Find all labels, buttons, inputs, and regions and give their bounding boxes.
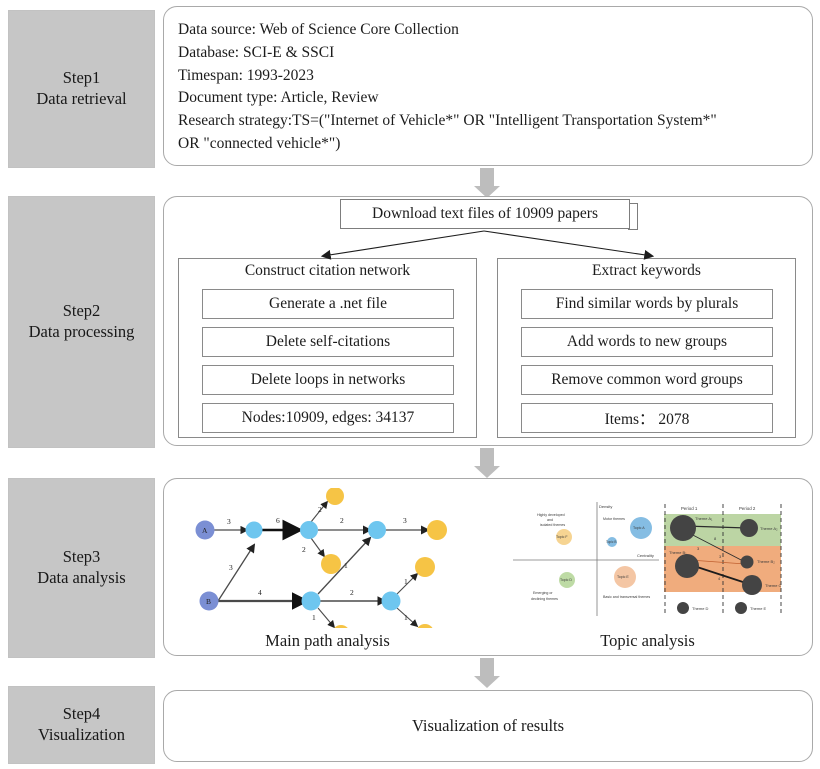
step2-line1: Step2 xyxy=(63,301,101,322)
step4-content-box: Visualization of results xyxy=(163,690,813,762)
step-label-step3: Step3 Data analysis xyxy=(8,478,155,658)
svg-text:Theme A₁: Theme A₁ xyxy=(695,516,713,521)
svg-text:2: 2 xyxy=(318,505,322,514)
step3-line2: Data analysis xyxy=(37,568,125,589)
step1-line-0: Data source: Web of Science Core Collect… xyxy=(178,19,802,42)
svg-text:Topic D: Topic D xyxy=(560,578,572,582)
main-path-analysis-figure: A B 3 6 3 2 2 2 3 1 4 2 1 1 1 xyxy=(185,488,465,628)
step-label-step4: Step4 Visualization xyxy=(8,686,155,764)
svg-text:3: 3 xyxy=(227,517,231,526)
step2-col1-item-3[interactable]: Nodes:10909, edges: 34137 xyxy=(202,403,454,433)
step4-line1: Step4 xyxy=(63,704,101,725)
svg-text:1: 1 xyxy=(344,561,348,570)
flowchart-canvas: Step1 Data retrieval Data source: Web of… xyxy=(0,0,820,769)
step2-col1-item-0[interactable]: Generate a .net file xyxy=(202,289,454,319)
svg-text:Topic F: Topic F xyxy=(556,535,568,539)
step2-col2-item-0-label: Find similar words by plurals xyxy=(556,295,739,313)
step1-line2: Data retrieval xyxy=(36,89,126,110)
step3-line1: Step3 xyxy=(63,547,101,568)
step2-col2-item-1[interactable]: Add words to new groups xyxy=(521,327,773,357)
step1-line-3: Document type: Article, Review xyxy=(178,87,802,110)
step2-col1-item-1[interactable]: Delete self-citations xyxy=(202,327,454,357)
svg-text:Basic and transversal themes: Basic and transversal themes xyxy=(603,595,650,599)
step3-right-caption: Topic analysis xyxy=(505,631,790,651)
svg-text:isolated themes: isolated themes xyxy=(540,523,565,527)
main-path-node-a: A xyxy=(202,526,208,535)
step1-line1: Step1 xyxy=(63,68,101,89)
step2-col1-item-1-label: Delete self-citations xyxy=(266,333,390,351)
svg-text:3: 3 xyxy=(403,516,407,525)
svg-text:2: 2 xyxy=(302,545,306,554)
topic-analysis-figure: Density Centrality Highly developed and … xyxy=(507,492,787,622)
svg-text:Density: Density xyxy=(599,504,612,509)
svg-text:Theme B₁: Theme B₁ xyxy=(669,550,687,555)
svg-text:Theme A₂: Theme A₂ xyxy=(760,526,778,531)
svg-text:1: 1 xyxy=(404,613,408,622)
svg-text:Highly developed: Highly developed xyxy=(537,513,565,517)
svg-text:2: 2 xyxy=(340,516,344,525)
step2-col2-item-3-label: Items： 2078 xyxy=(605,407,690,429)
svg-text:Emerging or: Emerging or xyxy=(533,591,553,595)
svg-text:4: 4 xyxy=(258,588,262,597)
step2-col1-item-2[interactable]: Delete loops in networks xyxy=(202,365,454,395)
svg-text:3: 3 xyxy=(229,563,233,572)
svg-text:2: 2 xyxy=(350,588,354,597)
step2-col1-item-0-label: Generate a .net file xyxy=(269,295,387,313)
step2-col2-item-2[interactable]: Remove common word groups xyxy=(521,365,773,395)
svg-text:Theme B₂: Theme B₂ xyxy=(757,559,775,564)
svg-text:declining themes: declining themes xyxy=(531,597,558,601)
step1-line-4: Research strategy:TS=("Internet of Vehic… xyxy=(178,110,802,133)
svg-text:Theme C: Theme C xyxy=(765,583,782,588)
step2-col1-item-2-label: Delete loops in networks xyxy=(251,371,406,389)
step4-text: Visualization of results xyxy=(164,716,812,736)
period-2-label: Period 2 xyxy=(739,506,756,511)
step4-line2: Visualization xyxy=(38,725,125,746)
svg-text:6: 6 xyxy=(276,516,280,525)
step1-line-1: Database: SCI-E & SSCI xyxy=(178,42,802,65)
download-doc-label: Download text files of 10909 papers xyxy=(372,205,598,223)
svg-text:Theme E: Theme E xyxy=(750,606,767,611)
period-1-label: Period 1 xyxy=(681,506,698,511)
svg-text:Centrality: Centrality xyxy=(637,553,654,558)
step2-col2-item-2-label: Remove common word groups xyxy=(551,371,743,389)
step-label-step2: Step2 Data processing xyxy=(8,196,155,448)
svg-text:Topic A: Topic A xyxy=(633,526,645,530)
arrow-step2-to-step3 xyxy=(474,448,500,478)
step3-left-caption: Main path analysis xyxy=(185,631,470,651)
svg-text:Topic E: Topic E xyxy=(617,575,629,579)
download-doc-box[interactable]: Download text files of 10909 papers xyxy=(340,199,630,229)
step2-line2: Data processing xyxy=(29,322,135,343)
step-label-step1: Step1 Data retrieval xyxy=(8,10,155,168)
step1-line-2: Timespan: 1993-2023 xyxy=(178,65,802,88)
svg-text:Theme D: Theme D xyxy=(692,606,709,611)
step2-col1-title: Construct citation network xyxy=(178,262,477,280)
arrow-step3-to-step4 xyxy=(474,658,500,688)
step2-col2-title: Extract keywords xyxy=(497,262,796,280)
step1-text-block: Data source: Web of Science Core Collect… xyxy=(178,19,802,156)
svg-text:1: 1 xyxy=(312,613,316,622)
step2-col2-item-0[interactable]: Find similar words by plurals xyxy=(521,289,773,319)
svg-text:Motor themes: Motor themes xyxy=(603,517,625,521)
svg-text:Topic B: Topic B xyxy=(606,540,616,544)
svg-text:1: 1 xyxy=(404,577,408,586)
main-path-node-b: B xyxy=(206,597,211,606)
step2-col2-item-3[interactable]: Items： 2078 xyxy=(521,403,773,433)
step1-line-5: OR "connected vehicle*") xyxy=(178,133,802,156)
step2-col1-item-3-label: Nodes:10909, edges: 34137 xyxy=(242,409,415,427)
svg-text:and: and xyxy=(547,518,553,522)
step1-content-box: Data source: Web of Science Core Collect… xyxy=(163,6,813,166)
arrow-step1-to-step2 xyxy=(474,168,500,198)
step2-col2-item-1-label: Add words to new groups xyxy=(567,333,727,351)
